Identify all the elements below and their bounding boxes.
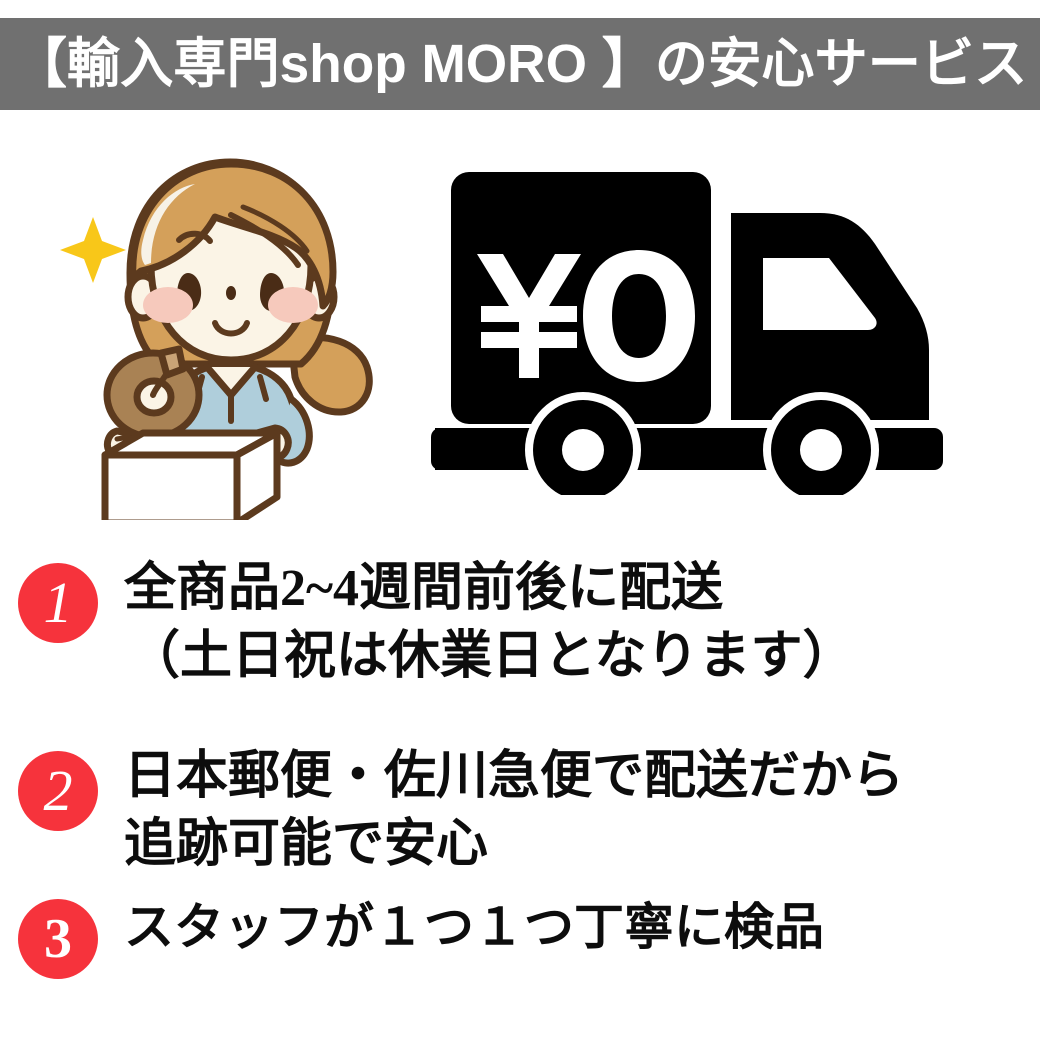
box-front xyxy=(105,455,237,520)
woman-packing-box-illustration xyxy=(55,145,405,520)
service-item-3: 3 スタッフが１つ１つ丁寧に検品 xyxy=(0,895,1040,979)
service-number-badge-1: 1 xyxy=(18,563,98,643)
sparkle-icon xyxy=(60,217,126,283)
truck-wheel-front-hub xyxy=(800,429,842,471)
nose xyxy=(226,286,236,300)
cheek-right xyxy=(268,287,318,323)
illustration-row xyxy=(0,125,1040,525)
cheek-left xyxy=(143,287,193,323)
promo-graphic: 【輸入専門shop MORO 】の安心サービス xyxy=(0,0,1040,1040)
woman-illustration-svg xyxy=(55,145,405,520)
delivery-truck-free-shipping-icon xyxy=(425,150,1000,495)
truck-icon-svg xyxy=(425,150,1000,495)
service-text-3: スタッフが１つ１つ丁寧に検品 xyxy=(124,895,1040,960)
service-text-2-line2: 追跡可能で安心 xyxy=(124,811,1040,879)
service-list: 1 全商品2~4週間前後に配送 （土日祝は休業日となります） 2 日本郵便・佐川… xyxy=(0,545,1040,1040)
truck-wheel-rear-hub xyxy=(562,429,604,471)
service-text-1-line2: （土日祝は休業日となります） xyxy=(124,623,1040,691)
header-banner: 【輸入専門shop MORO 】の安心サービス xyxy=(0,18,1040,110)
service-text-1: 全商品2~4週間前後に配送 （土日祝は休業日となります） xyxy=(124,555,1040,690)
service-text-2: 日本郵便・佐川急便で配送だから 追跡可能で安心 xyxy=(124,743,1040,878)
tape-strip xyxy=(161,349,183,375)
header-title: 【輸入専門shop MORO 】の安心サービス xyxy=(13,37,1027,91)
service-item-2: 2 日本郵便・佐川急便で配送だから 追跡可能で安心 xyxy=(0,743,1040,878)
service-text-3-line1: スタッフが１つ１つ丁寧に検品 xyxy=(124,899,824,955)
service-number-badge-3: 3 xyxy=(18,899,98,979)
service-number-badge-2: 2 xyxy=(18,751,98,831)
service-item-1: 1 全商品2~4週間前後に配送 （土日祝は休業日となります） xyxy=(0,555,1040,690)
service-text-1-line1: 全商品2~4週間前後に配送 xyxy=(124,560,723,617)
service-text-2-line1: 日本郵便・佐川急便で配送だから xyxy=(124,748,904,805)
